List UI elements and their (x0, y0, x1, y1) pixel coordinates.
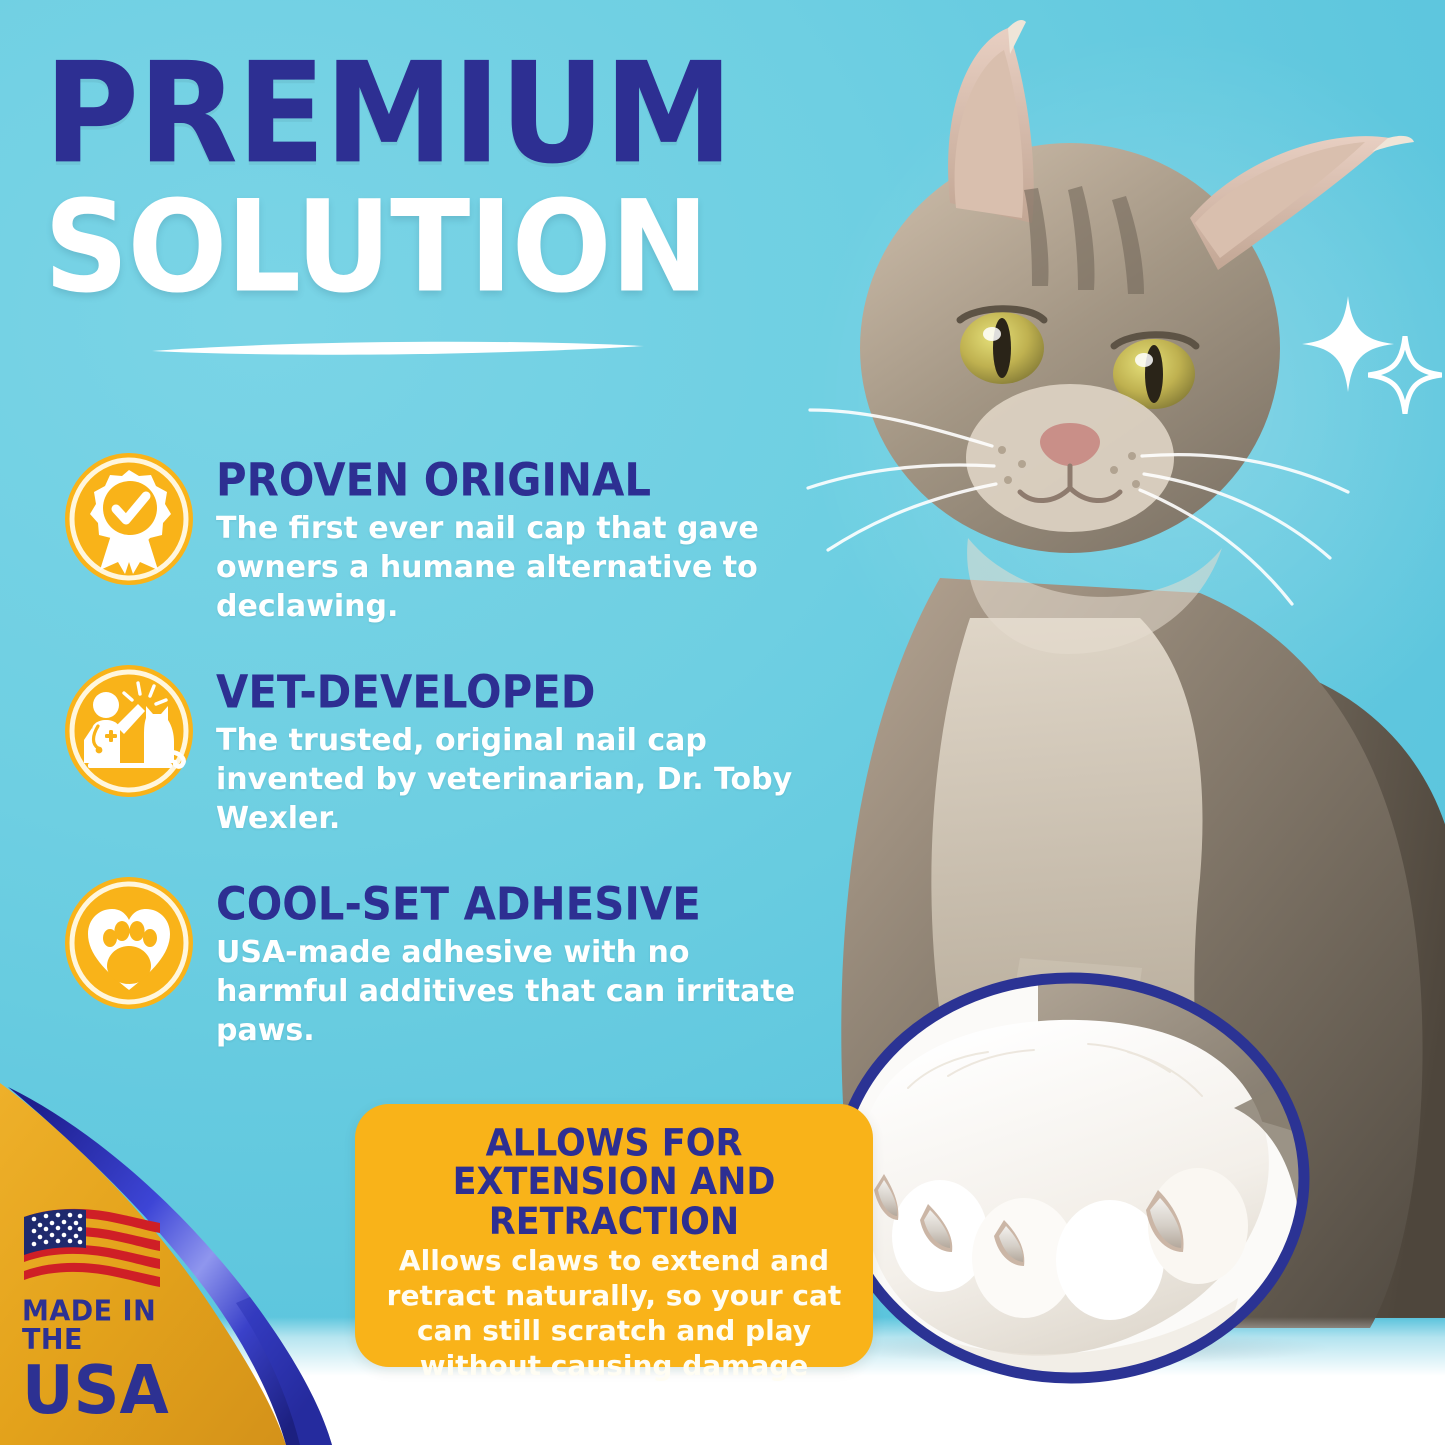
feature-description: The trusted, original nail cap invented … (216, 721, 816, 838)
headline-line-2: SOLUTION (44, 193, 937, 302)
feature-title: VET-DEVELOPED (216, 670, 834, 715)
usa-flag-icon (22, 1203, 162, 1289)
feature-text: PROVEN ORIGINAL The first ever nail cap … (216, 452, 822, 626)
feature-text: COOL-SET ADHESIVE USA-made adhesive with… (216, 876, 822, 1050)
feature-text: VET-DEVELOPED The trusted, original nail… (216, 664, 822, 838)
feature-description: USA-made adhesive with no harmful additi… (216, 933, 816, 1050)
headline-line-1: PREMIUM (44, 54, 913, 174)
product-feature-poster: PREMIUM SOLUTION (0, 0, 1445, 1445)
feature-item: COOL-SET ADHESIVE USA-made adhesive with… (62, 876, 822, 1050)
feature-title: PROVEN ORIGINAL (216, 458, 834, 503)
callout-description: Allows claws to extend and retract natur… (373, 1243, 855, 1383)
made-in-usa-badge: MADE IN THE USA (22, 1203, 222, 1417)
headline-block: PREMIUM SOLUTION (44, 54, 834, 283)
cat-paw-inset-photo (828, 968, 1314, 1388)
feature-title: COOL-SET ADHESIVE (216, 882, 834, 927)
feature-description: The first ever nail cap that gave owners… (216, 509, 806, 626)
headline-underline-swoosh (150, 338, 646, 358)
feature-list: PROVEN ORIGINAL The first ever nail cap … (62, 452, 822, 1088)
callout-title: ALLOWS FOR EXTENSION AND RETRACTION (373, 1124, 855, 1242)
feature-item: PROVEN ORIGINAL The first ever nail cap … (62, 452, 822, 626)
vet-high-five-cat-icon (62, 664, 196, 798)
feature-item: VET-DEVELOPED The trusted, original nail… (62, 664, 822, 838)
heart-paw-icon (62, 876, 196, 1010)
award-ribbon-check-icon (62, 452, 196, 586)
extension-retraction-callout: ALLOWS FOR EXTENSION AND RETRACTION Allo… (355, 1104, 873, 1367)
made-in-the-label: MADE IN THE (22, 1297, 222, 1354)
usa-label: USA (22, 1357, 234, 1424)
